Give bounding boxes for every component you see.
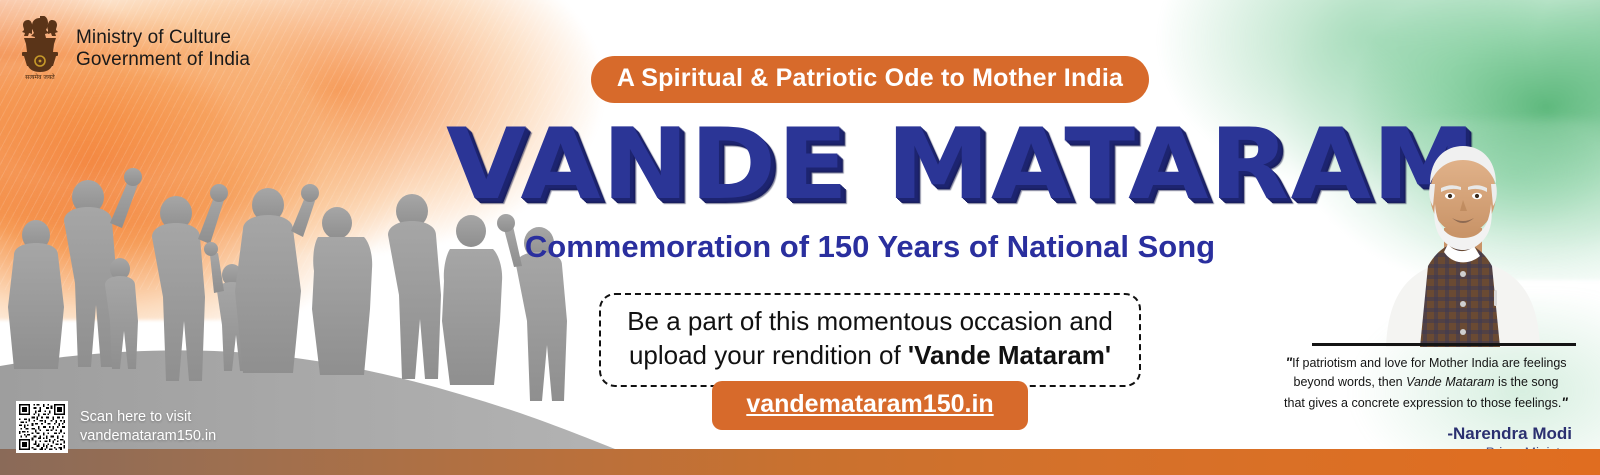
qr-code-block[interactable]: Scan here to visit vandemataram150.in [16, 401, 216, 453]
vande-mataram-banner: सत्यमेव जयते Ministry of Culture Governm… [0, 0, 1600, 475]
page-title: VANDE MATARAM [446, 117, 1294, 213]
cta-line-2-emphasis: 'Vande Mataram' [908, 340, 1111, 370]
quote-author: -Narendra Modi [1276, 424, 1576, 444]
cta-line-2-prefix: upload your rendition of [629, 340, 908, 370]
website-url-button[interactable]: vandemataram150.in [712, 381, 1027, 430]
quote-divider-rule [1312, 343, 1576, 346]
main-content-column: A Spiritual & Patriotic Ode to Mother In… [470, 0, 1270, 440]
qr-caption-line-1: Scan here to visit [80, 408, 216, 427]
qr-caption: Scan here to visit vandemataram150.in [80, 408, 216, 446]
quote-line-3: that gives a concrete expression to thos… [1284, 396, 1561, 410]
quote-line-2-pre: beyond words, then [1294, 375, 1407, 389]
ministry-line-2: Government of India [76, 49, 250, 71]
page-subtitle: Commemoration of 150 Years of National S… [470, 229, 1270, 265]
ministry-title: Ministry of Culture Government of India [76, 27, 250, 72]
narendra-modi-portrait [1368, 132, 1558, 347]
quote-line-1: If patriotism and love for Mother India … [1292, 356, 1566, 370]
ministry-line-1: Ministry of Culture [76, 27, 250, 49]
cta-line-2: upload your rendition of 'Vande Mataram' [627, 339, 1113, 373]
ministry-logo-block: सत्यमेव जयते Ministry of Culture Governm… [14, 16, 250, 82]
svg-text:सत्यमेव जयते: सत्यमेव जयते [25, 73, 55, 81]
qr-caption-line-2: vandemataram150.in [80, 427, 216, 446]
call-to-action-box: Be a part of this momentous occasion and… [599, 293, 1141, 387]
tagline-badge: A Spiritual & Patriotic Ode to Mother In… [591, 56, 1149, 103]
prime-minister-quote-block: "If patriotism and love for Mother India… [1276, 352, 1576, 460]
quote-text: "If patriotism and love for Mother India… [1276, 352, 1576, 414]
footer-color-strip [0, 449, 1600, 475]
ashoka-lion-capital-emblem: सत्यमेव जयते [14, 16, 66, 82]
quote-close-mark: " [1561, 394, 1568, 410]
cta-line-1: Be a part of this momentous occasion and [627, 305, 1113, 339]
qr-code-icon[interactable] [16, 401, 68, 453]
quote-line-2-post: is the song [1495, 375, 1559, 389]
quote-line-2-emphasis: Vande Mataram [1406, 375, 1494, 389]
